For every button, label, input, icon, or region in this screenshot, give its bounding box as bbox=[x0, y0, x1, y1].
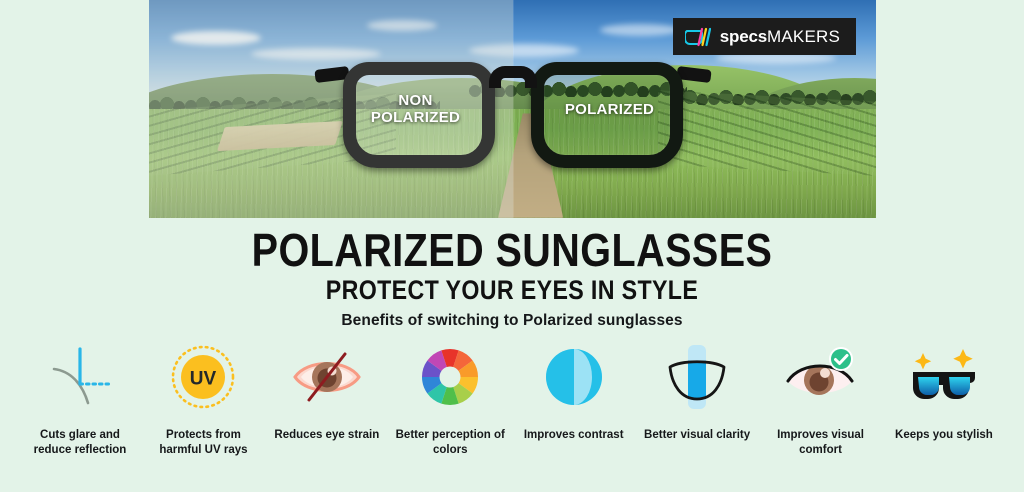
page-subtitle: PROTECT YOUR EYES IN STYLE bbox=[72, 276, 953, 305]
stylish-sunglasses-icon bbox=[908, 340, 980, 414]
brand-logo-makers: MAKERS bbox=[767, 27, 840, 47]
frame-bridge bbox=[489, 66, 537, 88]
benefit-label: Improves contrast bbox=[524, 428, 624, 443]
benefit-label: Better perception of colors bbox=[394, 428, 506, 457]
benefit-item[interactable]: Reduces eye strain bbox=[271, 340, 383, 443]
specs-makers-logo-icon bbox=[685, 26, 711, 47]
benefit-label: Better visual clarity bbox=[644, 428, 750, 443]
benefit-label: Reduces eye strain bbox=[274, 428, 379, 443]
label-polarized: POLARIZED bbox=[545, 101, 675, 118]
benefit-item[interactable]: Better perception of colors bbox=[394, 340, 506, 457]
benefit-label: Protects from harmful UV rays bbox=[147, 428, 259, 457]
sunglasses-overlay: NON POLARIZED POLARIZED bbox=[343, 62, 683, 170]
benefit-item[interactable]: Keeps you stylish bbox=[888, 340, 1000, 443]
page-tagline: Benefits of switching to Polarized sungl… bbox=[0, 312, 1024, 330]
vineyard-rows-right bbox=[658, 90, 876, 176]
benefit-label: Keeps you stylish bbox=[895, 428, 993, 443]
brand-logo-specs: specs bbox=[720, 27, 767, 47]
label-non-polarized-line1: NON bbox=[351, 92, 481, 109]
benefits-row: Cuts glare and reduce reflection UV Prot… bbox=[24, 340, 1000, 457]
cloud bbox=[600, 24, 680, 36]
label-non-polarized-line2: POLARIZED bbox=[351, 109, 481, 126]
uv-shield-icon: UV bbox=[167, 340, 239, 414]
brand-logo[interactable]: specs MAKERS bbox=[673, 18, 856, 55]
benefit-label: Cuts glare and reduce reflection bbox=[24, 428, 136, 457]
label-non-polarized: NON POLARIZED bbox=[351, 92, 481, 126]
benefit-item[interactable]: Cuts glare and reduce reflection bbox=[24, 340, 136, 457]
lens-clarity-icon bbox=[661, 340, 733, 414]
page-title: POLARIZED SUNGLASSES bbox=[72, 226, 953, 274]
color-wheel-icon bbox=[414, 340, 486, 414]
eye-strain-icon bbox=[291, 340, 363, 414]
benefit-item[interactable]: Better visual clarity bbox=[641, 340, 753, 443]
benefit-item[interactable]: Improves visual comfort bbox=[765, 340, 877, 457]
eye-comfort-check-icon bbox=[785, 340, 857, 414]
poster-canvas: NON POLARIZED POLARIZED specs MAKERS POL… bbox=[0, 0, 1024, 492]
glare-refraction-icon bbox=[44, 340, 116, 414]
benefit-item[interactable]: Improves contrast bbox=[518, 340, 630, 443]
benefit-item[interactable]: UV Protects from harmful UV rays bbox=[147, 340, 259, 457]
benefit-label: Improves visual comfort bbox=[765, 428, 877, 457]
contrast-circle-icon bbox=[538, 340, 610, 414]
uv-badge-text: UV bbox=[190, 369, 217, 390]
hero-image: NON POLARIZED POLARIZED specs MAKERS bbox=[149, 0, 876, 218]
brand-logo-text: specs MAKERS bbox=[720, 27, 840, 47]
